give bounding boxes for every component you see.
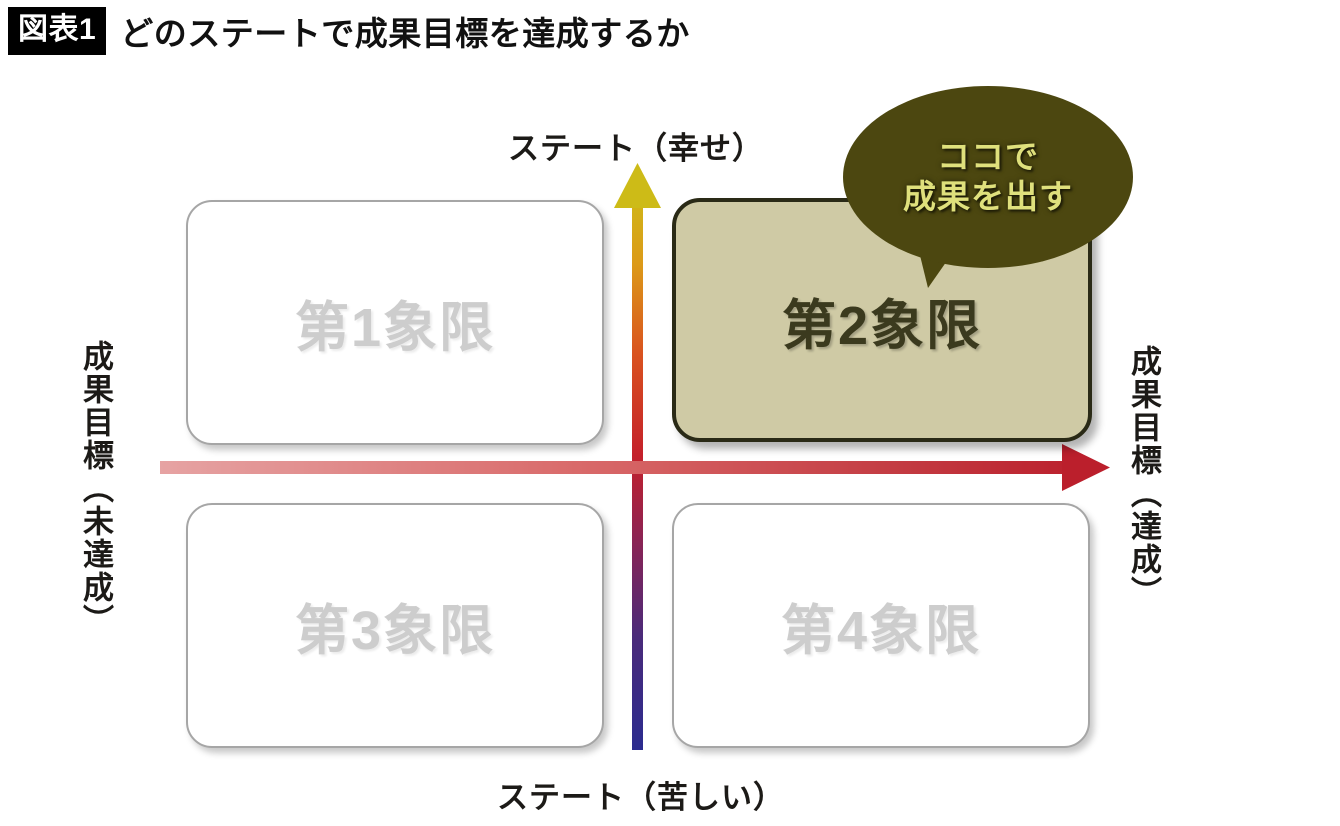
axis-label-right: 成果目標（達成） [1128,345,1159,609]
callout-bubble: ココで 成果を出す [843,86,1133,268]
quadrant-label-3: 第3象限 [295,586,495,665]
callout[interactable]: ココで 成果を出す [843,86,1133,268]
quadrant-box-1[interactable]: 第1象限 [186,200,604,445]
callout-line-1: ココで [937,138,1039,176]
quadrant-box-3[interactable]: 第3象限 [186,503,604,748]
callout-line-2: 成果を出す [903,178,1073,216]
quadrant-box-4[interactable]: 第4象限 [672,503,1090,748]
quadrant-label-4: 第4象限 [781,586,981,665]
horizontal-axis-shaft [160,461,1086,474]
axis-label-top: ステート（幸せ） [508,123,764,168]
horizontal-axis-arrowhead [1062,444,1110,491]
quadrant-label-2: 第2象限 [782,281,982,360]
quadrant-label-1: 第1象限 [295,283,495,362]
vertical-axis-arrowhead [614,163,661,208]
quadrant-diagram: 第1象限 第2象限 第3象限 第4象限 ココで 成果を出す ステート（幸せ） ス… [0,0,1340,826]
axis-label-left: 成果目標（未達成） [80,340,111,637]
axis-label-bottom: ステート（苦しい） [497,772,785,817]
